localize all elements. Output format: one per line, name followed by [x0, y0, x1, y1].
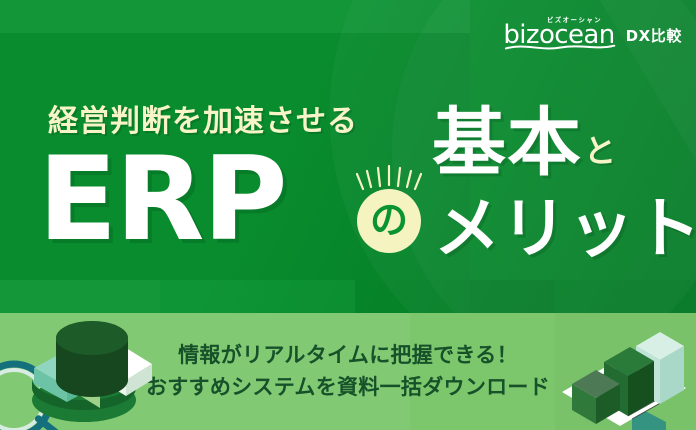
pie-chart-magnifier-illustration [0, 318, 182, 430]
underline-wave-icon [505, 43, 616, 52]
service-label: DX比較 [626, 25, 682, 48]
hero-subject: 基本 [432, 108, 582, 179]
bizocean-ruby-text: ビズオーシャン [547, 14, 602, 24]
hero-title: ERP [38, 142, 286, 258]
radiating-lines-icon [356, 163, 422, 191]
hero-conjunction: と [584, 126, 616, 179]
bar-chart-document-illustration [520, 318, 696, 430]
erp-promo-banner: ビズオーシャン bizocean DX比較 経営判断を加速させる ERP の 基… [0, 0, 696, 430]
pie-chart-magnifier-svg [0, 318, 182, 430]
bizocean-wordmark[interactable]: ビズオーシャン bizocean [503, 22, 614, 48]
no-particle-badge: の [357, 189, 421, 253]
brand-logo[interactable]: ビズオーシャン bizocean DX比較 [503, 22, 682, 48]
hero-subject-group: 基本 と [432, 108, 616, 179]
hero-benefit: メリット [434, 196, 696, 262]
bar-chart-document-svg [520, 318, 696, 430]
no-particle-char: の [370, 201, 408, 239]
